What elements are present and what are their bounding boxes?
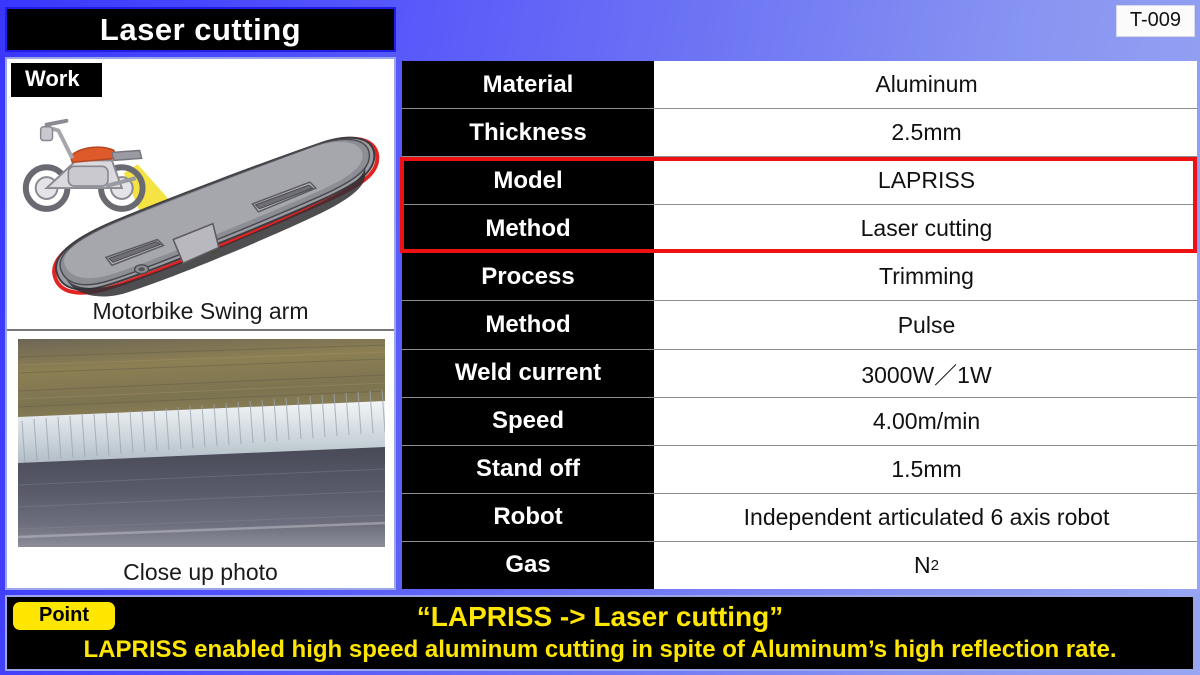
table-row: MethodPulse — [402, 301, 1197, 349]
table-row: MaterialAluminum — [402, 61, 1197, 109]
spec-value: N2 — [654, 542, 1197, 589]
point-headline: “LAPRISS -> Laser cutting” — [7, 601, 1193, 633]
spec-value: 1.5mm — [654, 446, 1197, 493]
spec-label: Weld current — [402, 350, 654, 397]
spec-table: MaterialAluminumThickness2.5mmModelLAPRI… — [402, 61, 1197, 589]
motorbike-icon — [26, 121, 143, 209]
slide-root: Laser cutting T-009 Work — [0, 0, 1200, 675]
spec-value: Pulse — [654, 301, 1197, 348]
spec-label: Stand off — [402, 446, 654, 493]
table-row: Stand off1.5mm — [402, 446, 1197, 494]
table-row: MethodLaser cutting — [402, 205, 1197, 253]
spec-value: Independent articulated 6 axis robot — [654, 494, 1197, 541]
photo-caption: Close up photo — [7, 559, 394, 586]
table-row: Thickness2.5mm — [402, 109, 1197, 157]
table-row: GasN2 — [402, 542, 1197, 589]
left-illustration-column: Work — [5, 57, 396, 590]
spec-label: Method — [402, 205, 654, 252]
spec-label: Model — [402, 157, 654, 204]
table-row: Weld current3000W／1W — [402, 350, 1197, 398]
table-row: Speed4.00m/min — [402, 398, 1197, 446]
table-row: RobotIndependent articulated 6 axis robo… — [402, 494, 1197, 542]
work-label: Work — [11, 63, 102, 97]
slide-id-badge: T-009 — [1116, 5, 1195, 37]
spec-value: Aluminum — [654, 61, 1197, 108]
spec-label: Process — [402, 253, 654, 300]
spec-label: Material — [402, 61, 654, 108]
point-description: LAPRISS enabled high speed aluminum cutt… — [7, 636, 1193, 664]
spec-value: 3000W／1W — [654, 350, 1197, 397]
work-panel: Work — [7, 59, 394, 331]
spec-label: Speed — [402, 398, 654, 445]
page-title: Laser cutting — [100, 12, 301, 48]
spec-value: Trimming — [654, 253, 1197, 300]
slide-title-bar: Laser cutting — [5, 7, 396, 52]
point-banner: Point “LAPRISS -> Laser cutting” LAPRISS… — [5, 595, 1195, 671]
work-illustration — [7, 59, 394, 329]
spec-label: Gas — [402, 542, 654, 589]
spec-value: 2.5mm — [654, 109, 1197, 156]
spec-label: Robot — [402, 494, 654, 541]
work-caption: Motorbike Swing arm — [7, 298, 394, 325]
spec-label: Method — [402, 301, 654, 348]
spec-label: Thickness — [402, 109, 654, 156]
spec-value: 4.00m/min — [654, 398, 1197, 445]
photo-panel: Close up photo — [7, 331, 394, 588]
table-row: ProcessTrimming — [402, 253, 1197, 301]
spec-value: Laser cutting — [654, 205, 1197, 252]
table-row: ModelLAPRISS — [402, 157, 1197, 205]
spec-value: LAPRISS — [654, 157, 1197, 204]
cut-edge-photo — [18, 339, 385, 547]
